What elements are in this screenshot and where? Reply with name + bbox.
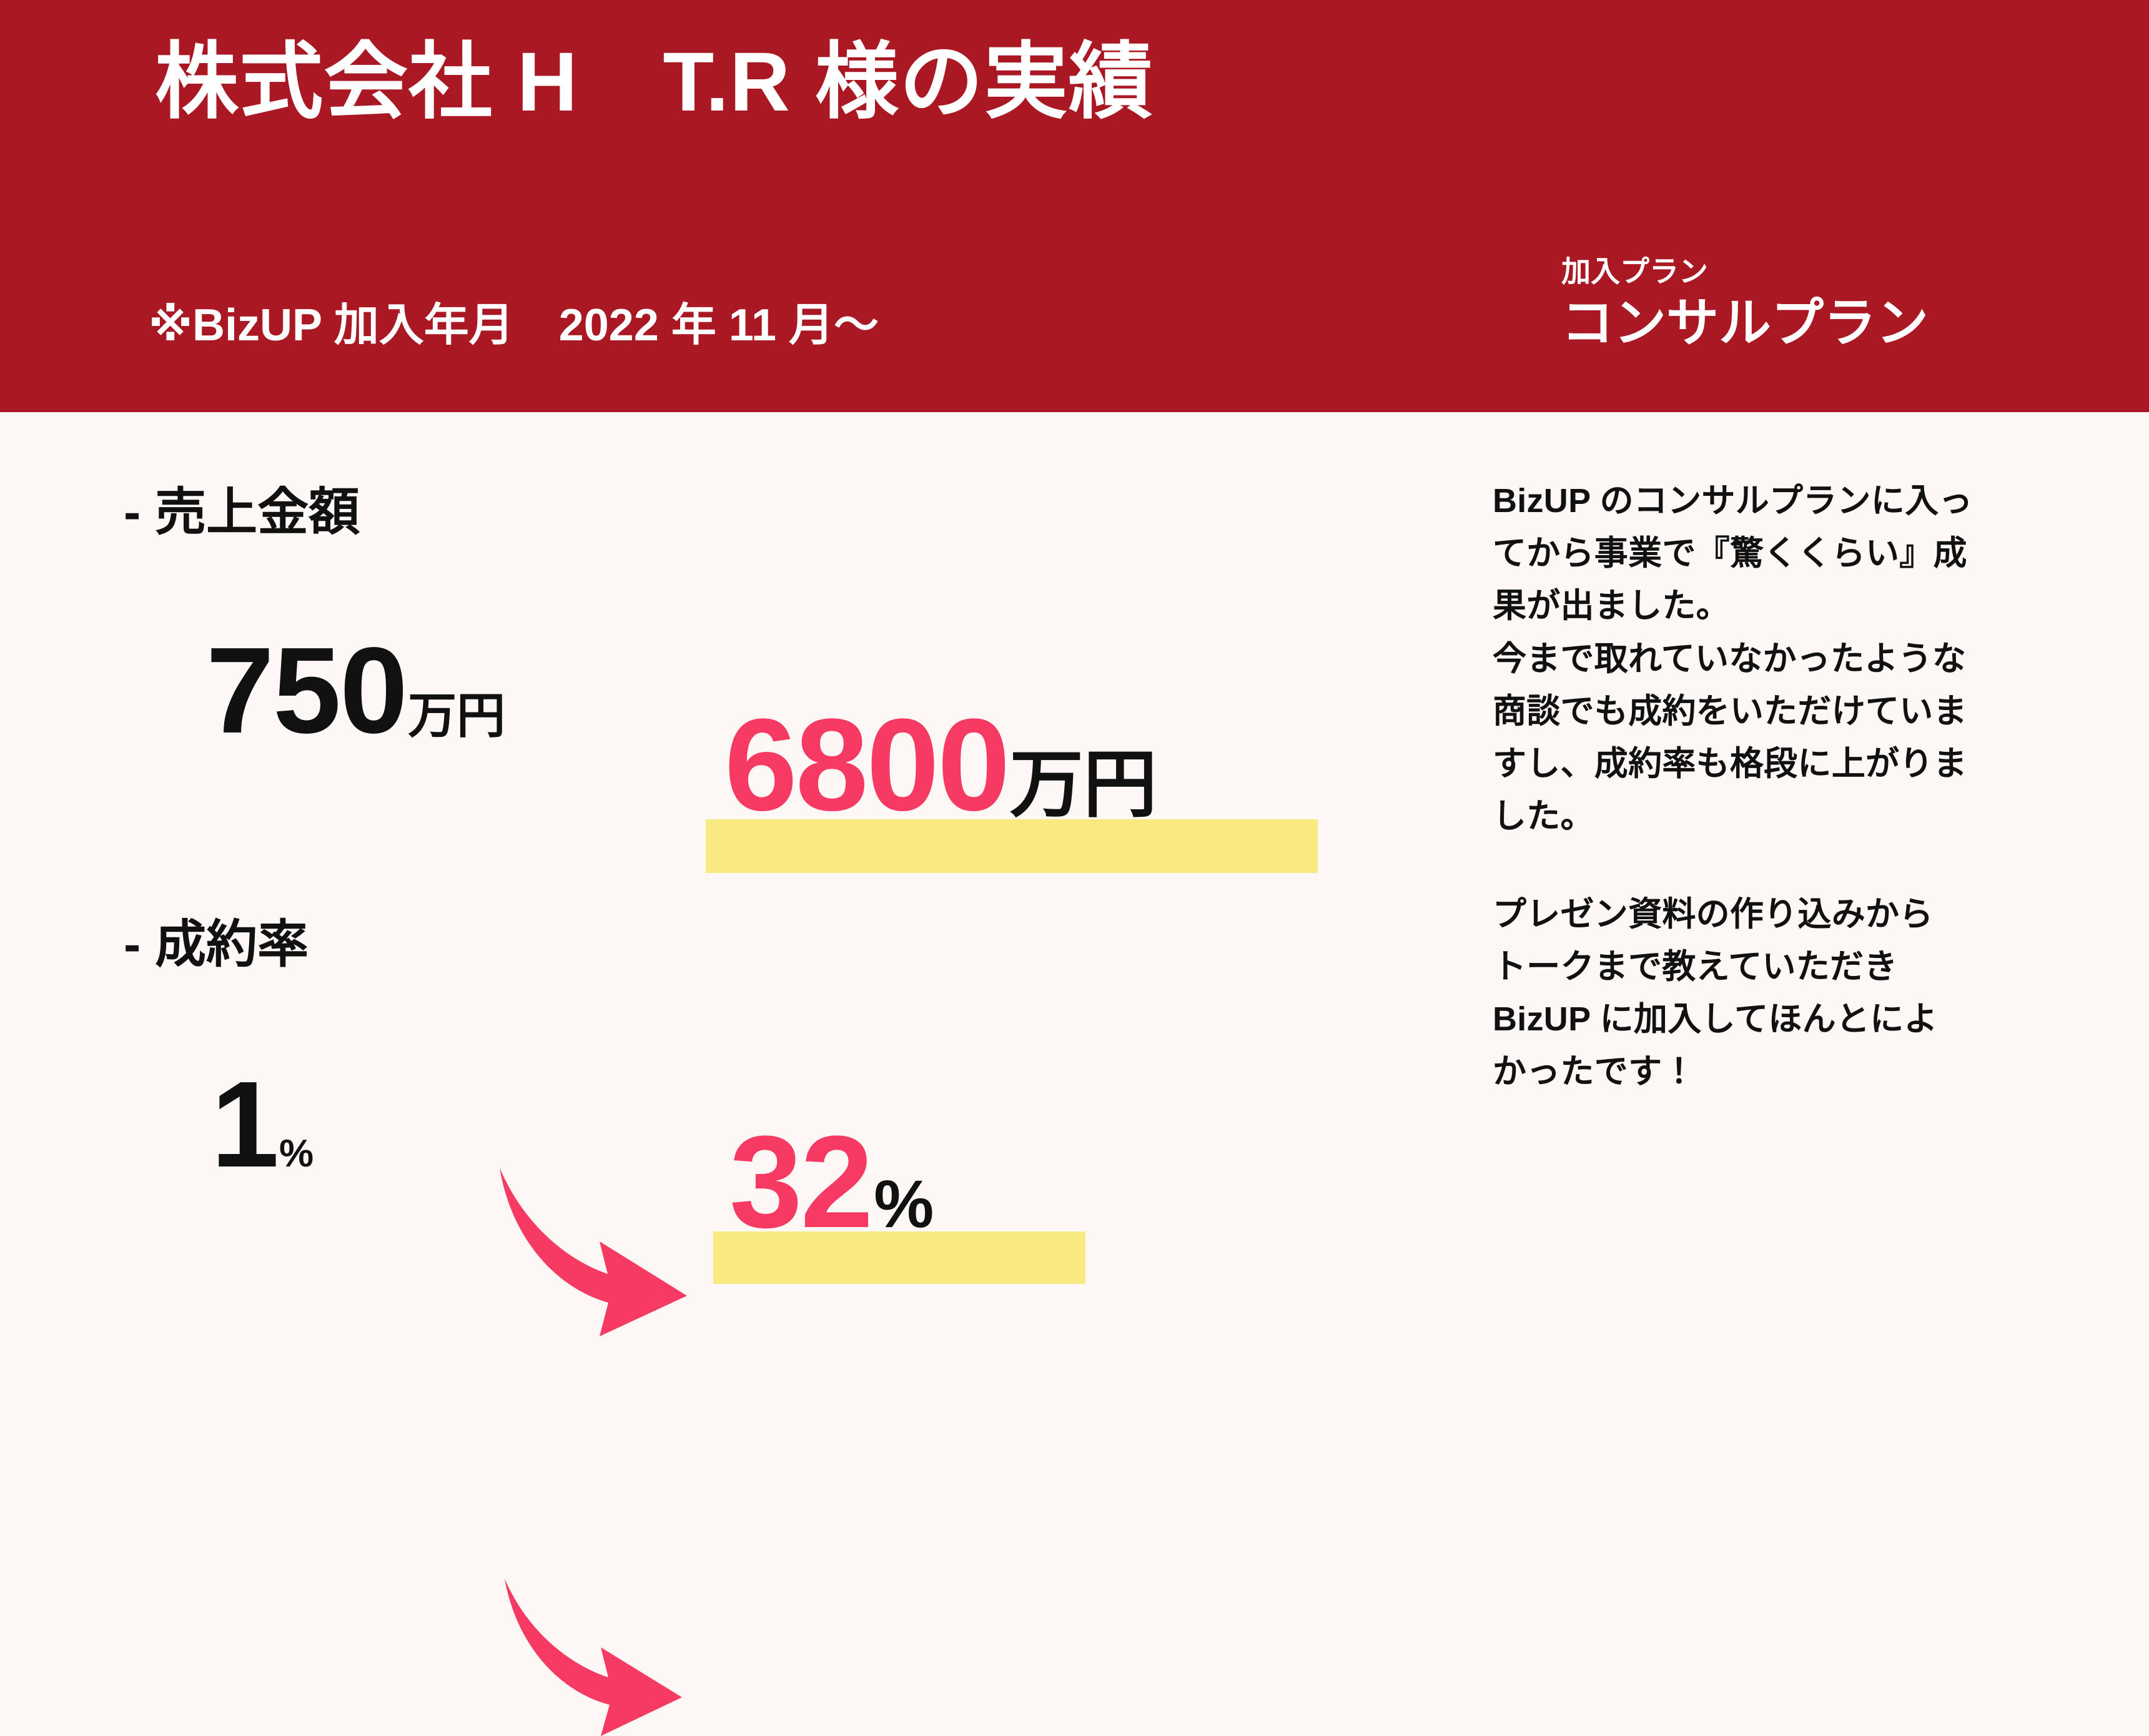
testimonial-line: てから事業で『驚くくらい』成 — [1493, 535, 1967, 572]
plan-name: コンサルプラン — [1561, 292, 1929, 354]
testimonial-line: 今まで取れていなかったような — [1493, 640, 1966, 678]
testimonial-line: 果が出ました。 — [1493, 587, 1730, 624]
metric-before-conversion-rate-unit: % — [279, 1132, 314, 1175]
header-band: 株式会社 H T.R 様の実績 ※BizUP 加入年月 2022 年 11 月〜… — [0, 0, 2149, 412]
curved-arrow-icon — [475, 1561, 724, 1736]
testimonial-section: BizUP のコンサルプランに入っ てから事業で『驚くくらい』成 果が出ました。… — [1493, 475, 2123, 1098]
metric-after-conversion-rate-unit: % — [874, 1166, 934, 1241]
page-title: 株式会社 H T.R 様の実績 — [155, 17, 1153, 147]
testimonial-paragraph-1: BizUP のコンサルプランに入っ てから事業で『驚くくらい』成 果が出ました。… — [1493, 475, 2123, 843]
testimonial-line: した。 — [1493, 797, 1594, 835]
testimonial-line: トークまで教えていただき — [1493, 948, 1898, 985]
metric-label-conversion-rate: - 成約率 — [124, 919, 309, 970]
curved-arrow-icon — [467, 1149, 729, 1336]
metric-after-sales: 6800万円 — [724, 699, 1157, 831]
testimonial-line: BizUP のコンサルプランに入っ — [1493, 482, 1973, 520]
testimonial-line: 商談でも成約をいただけていま — [1493, 693, 1967, 730]
testimonial-paragraph-2: プレゼン資料の作り込みから トークまで教えていただき BizUP に加入してほん… — [1493, 888, 2123, 1098]
metric-after-sales-value: 6800 — [724, 691, 1009, 838]
metric-before-sales-value: 750 — [206, 622, 407, 759]
metric-after-sales-unit: 万円 — [1010, 744, 1157, 826]
metric-before-conversion-rate: 1% — [211, 1063, 314, 1186]
metric-before-conversion-rate-value: 1 — [211, 1056, 278, 1193]
metric-before-sales: 750万円 — [206, 629, 505, 752]
join-date-label: ※BizUP 加入年月 2022 年 11 月〜 — [149, 298, 879, 352]
testimonial-line: BizUP に加入してほんとによ — [1493, 1000, 1938, 1038]
paragraph-spacer — [1493, 843, 2123, 888]
testimonial-line: プレゼン資料の作り込みから — [1493, 895, 1934, 933]
plan-caption: 加入プラン — [1561, 255, 1929, 289]
metric-after-conversion-rate-value: 32 — [729, 1108, 871, 1255]
plan-block: 加入プラン コンサルプラン — [1561, 255, 1929, 354]
testimonial-line: すし、成約率も格段に上がりま — [1493, 745, 1967, 782]
testimonial-line: かったです！ — [1493, 1053, 1696, 1090]
metric-before-sales-unit: 万円 — [408, 688, 505, 743]
metrics-section: - 売上金額 750万円 6800万円 - 成約率 1% 32% — [0, 412, 1436, 1349]
metric-after-conversion-rate: 32% — [729, 1117, 934, 1248]
metric-label-sales: - 売上金額 — [124, 487, 360, 538]
